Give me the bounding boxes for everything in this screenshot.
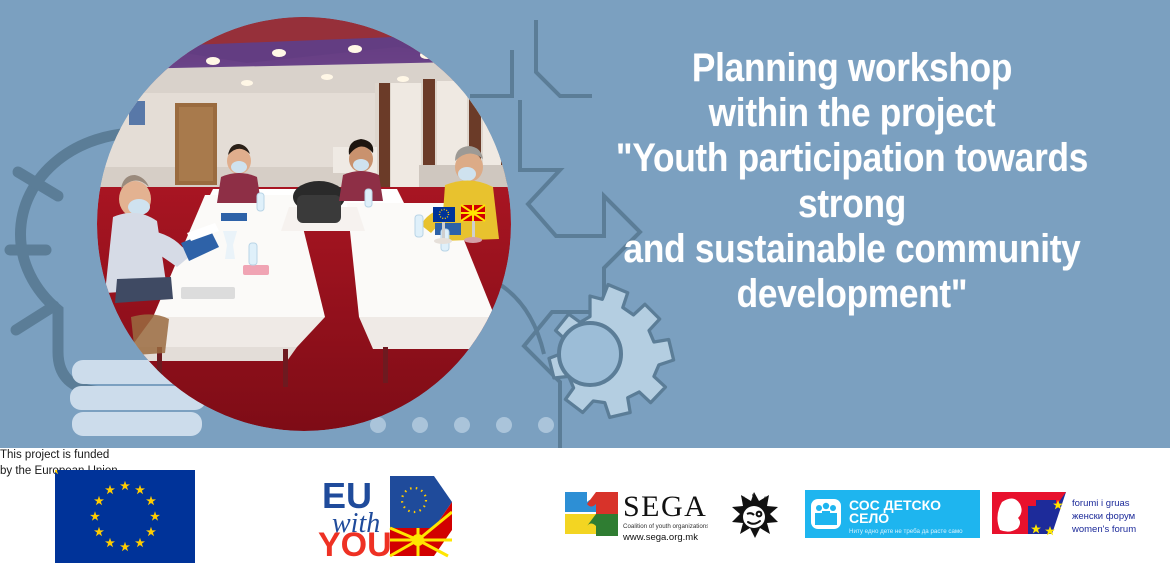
womens-forum-line1: forumi i gruas [1072,498,1130,509]
hero-section: Planning workshop within the project "Yo… [0,0,1170,448]
event-banner: Planning workshop within the project "Yo… [0,0,1170,570]
sos-childrens-village-logo: СОС ДЕТСКО СЕЛО Ниту едно дете не треба … [805,490,980,538]
workshop-photo [97,17,511,431]
sega-puzzle-icon [565,492,618,536]
sega-logo: SEGA Coalition of youth organizations ww… [563,486,708,546]
sega-wordmark: SEGA [623,490,707,523]
svg-text:c: c [752,491,755,499]
eu-with-you-logo: EU with YOU [318,472,452,560]
sos-line2: СЕЛО [849,510,889,526]
sega-url: www.sega.org.mk [622,532,698,543]
european-union-flag [55,470,195,563]
eu-with-you-you: YOU [318,526,392,560]
sun-face-logo: v c s [728,490,780,542]
sos-tagline: Ниту едно дете не треба да расте само [849,528,963,535]
svg-text:s: s [764,494,767,502]
womens-forum-line3: women's forum [1071,524,1136,535]
eu-with-you-arrow [390,476,452,556]
womens-forum-logo: forumi i gruas женски форум women's foru… [992,488,1144,540]
page-title: Planning workshop within the project "Yo… [577,46,1126,317]
svg-text:v: v [741,494,745,502]
partner-logo-bar: This project is funded by the European U… [0,448,1170,570]
sega-tagline: Coalition of youth organizations [623,523,708,530]
womens-forum-line2: женски форум [1072,511,1135,522]
sos-house-icon [811,499,841,529]
